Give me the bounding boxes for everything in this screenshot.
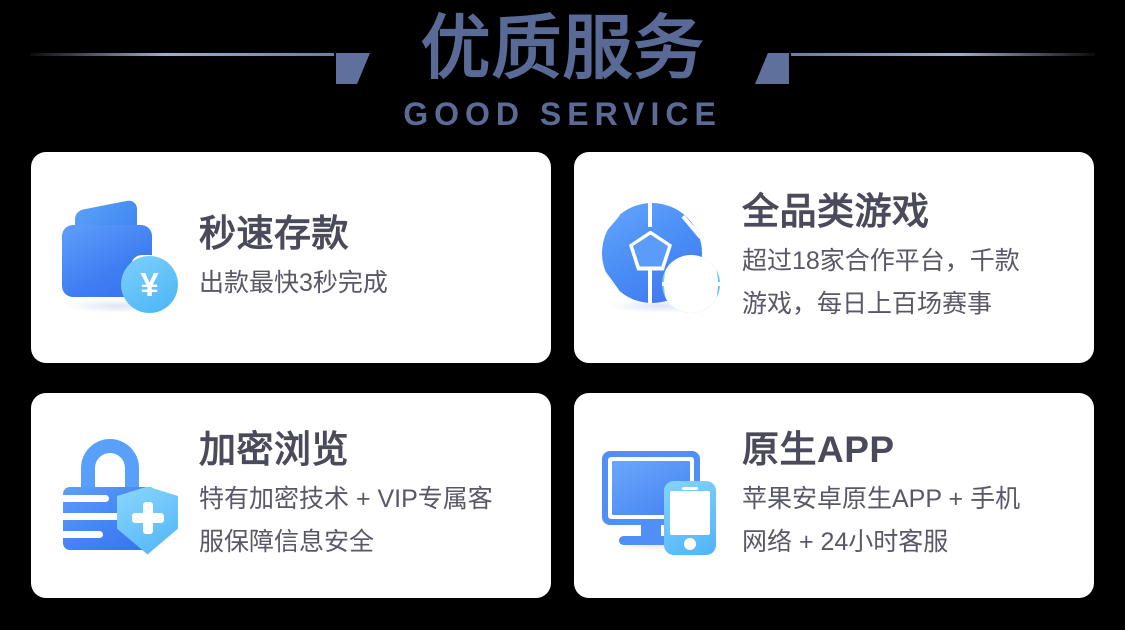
soccer-seam [648,269,652,303]
phone-screen [670,491,710,535]
service-card-encrypted-browsing[interactable]: 加密浏览 特有加密技术 + VIP专属客 服保障信息安全 [31,393,551,598]
soccer-seam [602,266,621,294]
service-card-grid: ¥ 秒速存款 出款最快3秒完成 [31,152,1094,598]
card-icon-area [574,152,742,363]
page-header: 优质服务 GOOD SERVICE [0,0,1125,148]
phone-speaker [682,487,698,490]
card-subtitle-line: 网络 + 24小时客服 [742,521,1080,564]
card-title: 全品类游戏 [742,189,1080,235]
basketball-curve [664,255,718,313]
card-subtitle-line: 特有加密技术 + VIP专属客 [199,478,537,521]
card-title: 秒速存款 [199,211,537,257]
card-subtitle: 超过18家合作平台，千款 游戏，每日上百场赛事 [742,240,1080,326]
card-text-area: 秒速存款 出款最快3秒完成 [199,211,551,305]
soccer-seam [681,214,702,238]
card-icon-area: ¥ [31,152,199,363]
soccer-seam [648,203,652,227]
lock-slot [63,513,125,520]
card-icon-area [31,393,199,598]
soccer-seam [602,212,620,234]
card-text-area: 加密浏览 特有加密技术 + VIP专属客 服保障信息安全 [199,427,551,564]
phone-home-button [684,538,696,550]
card-icon-area [574,393,742,598]
lock-slot [63,495,109,502]
basketball-icon [662,255,720,313]
yuan-coin-icon: ¥ [121,256,178,313]
card-text-area: 全品类游戏 超过18家合作平台，千款 游戏，每日上百场赛事 [742,189,1094,326]
card-subtitle-line: 出款最快3秒完成 [199,262,537,305]
card-title: 加密浏览 [199,427,537,473]
page-title: 优质服务 [0,6,1125,90]
wallet-coin-icon: ¥ [59,199,177,317]
card-subtitle: 苹果安卓原生APP + 手机 网络 + 24小时客服 [742,478,1080,564]
smartphone-icon [664,481,716,555]
service-card-fast-deposit[interactable]: ¥ 秒速存款 出款最快3秒完成 [31,152,551,363]
service-card-all-games[interactable]: 全品类游戏 超过18家合作平台，千款 游戏，每日上百场赛事 [574,152,1094,363]
card-subtitle-line: 游戏，每日上百场赛事 [742,283,1080,326]
card-subtitle-line: 超过18家合作平台，千款 [742,240,1080,283]
page-subtitle: GOOD SERVICE [0,95,1125,133]
card-subtitle: 特有加密技术 + VIP专属客 服保障信息安全 [199,478,537,564]
soccer-pentagon [629,231,672,271]
lock-slot [63,531,103,538]
lock-shield-icon [59,437,177,555]
card-text-area: 原生APP 苹果安卓原生APP + 手机 网络 + 24小时客服 [742,427,1094,564]
monitor-phone-icon [602,437,720,555]
card-subtitle-line: 苹果安卓原生APP + 手机 [742,478,1080,521]
service-card-native-app[interactable]: 原生APP 苹果安卓原生APP + 手机 网络 + 24小时客服 [574,393,1094,598]
card-subtitle: 出款最快3秒完成 [199,262,537,305]
card-subtitle-line: 服保障信息安全 [199,521,537,564]
soccer-basketball-icon [602,199,720,317]
plus-icon [132,513,164,523]
card-title: 原生APP [742,427,1080,473]
